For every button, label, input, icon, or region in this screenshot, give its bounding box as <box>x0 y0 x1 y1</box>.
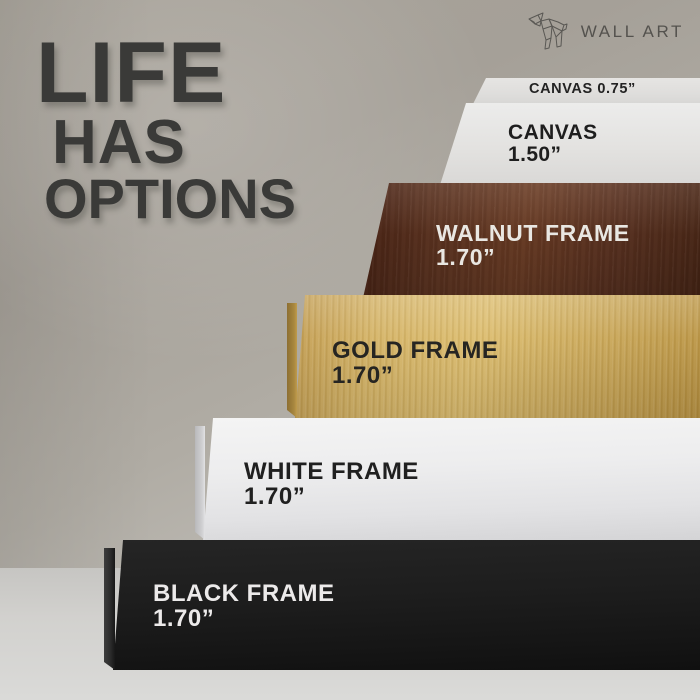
option-name: BLACK FRAME <box>153 581 334 606</box>
option-slab-canvas-075[interactable]: CANVAS 0.75” <box>472 78 700 106</box>
option-label-black-frame: BLACK FRAME 1.70” <box>153 581 334 632</box>
option-label-white-frame: WHITE FRAME 1.70” <box>244 459 419 510</box>
option-label-canvas-075: CANVAS 0.75” <box>529 82 636 97</box>
option-size: 1.70” <box>436 245 630 269</box>
product-options-poster: LIFE HAS OPTIONS WALL ART <box>0 0 700 700</box>
black-frame-side-edge <box>104 548 115 670</box>
page-title: LIFE HAS OPTIONS <box>36 36 296 223</box>
option-label-walnut-frame: WALNUT FRAME 1.70” <box>436 221 630 270</box>
brand-name: WALL ART <box>581 22 684 42</box>
option-slab-black-frame[interactable]: BLACK FRAME 1.70” <box>113 540 700 670</box>
option-slab-walnut-frame[interactable]: WALNUT FRAME 1.70” <box>363 183 700 298</box>
option-name: CANVAS 0.75” <box>529 82 636 97</box>
white-frame-side-edge <box>195 426 205 540</box>
headline-line-2: HAS <box>52 116 296 171</box>
option-name: WHITE FRAME <box>244 459 419 484</box>
option-name: WALNUT FRAME <box>436 221 630 245</box>
option-slab-white-frame[interactable]: WHITE FRAME 1.70” <box>203 418 700 540</box>
option-slab-gold-frame[interactable]: GOLD FRAME 1.70” <box>295 295 700 418</box>
option-size: 1.70” <box>332 363 498 388</box>
option-label-gold-frame: GOLD FRAME 1.70” <box>332 338 498 389</box>
brand-lockup[interactable]: WALL ART <box>526 12 684 52</box>
option-label-canvas-150: CANVAS 1.50” <box>508 122 598 167</box>
gold-frame-side-edge <box>287 303 297 418</box>
headline-line-1: LIFE <box>36 36 296 112</box>
option-size: 1.50” <box>508 144 598 166</box>
headline-line-3: OPTIONS <box>44 174 296 223</box>
option-slab-canvas-150[interactable]: CANVAS 1.50” <box>440 103 700 185</box>
option-name: CANVAS <box>508 122 598 144</box>
option-size: 1.70” <box>153 606 334 631</box>
option-name: GOLD FRAME <box>332 338 498 363</box>
origami-goat-icon <box>526 12 572 52</box>
option-size: 1.70” <box>244 484 419 509</box>
